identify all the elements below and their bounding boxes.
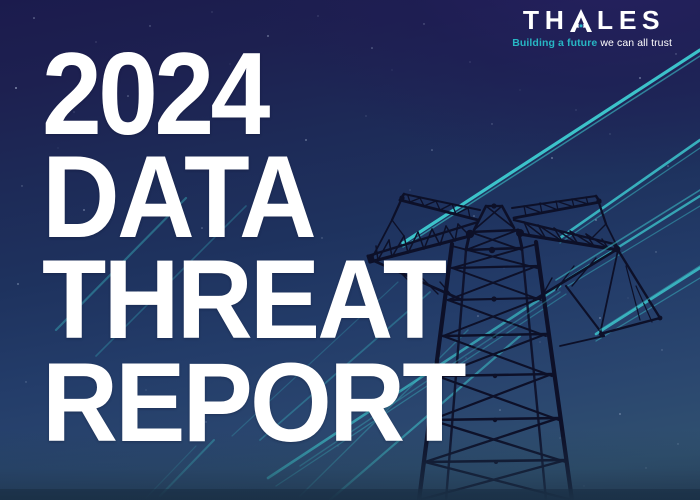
logo-letter-s: S [642,8,661,32]
title-line-threat: THREAT [42,248,464,351]
title-line-data: DATA [42,145,455,248]
bottom-band [0,489,700,500]
title-line-year: 2024 [42,42,455,145]
report-cover: 2024 DATA THREAT REPORT T H L E S Buildi… [0,0,700,500]
title-line-report: REPORT [42,351,464,454]
thales-logo[interactable]: T H L E S Building a future we can all t… [512,8,672,49]
tagline-highlight: Building a future [512,37,597,49]
logo-letter-h: H [545,8,565,32]
logo-letter-t: T [523,8,540,32]
logo-letter-l: L [597,8,614,32]
logo-letter-e: E [619,8,638,32]
page-title: 2024 DATA THREAT REPORT [42,42,491,454]
logo-letter-a-mark [570,9,592,32]
thales-wordmark: T H L E S [512,8,672,32]
thales-tagline: Building a future we can all trust [512,37,672,49]
tagline-rest: we can all trust [600,37,672,49]
